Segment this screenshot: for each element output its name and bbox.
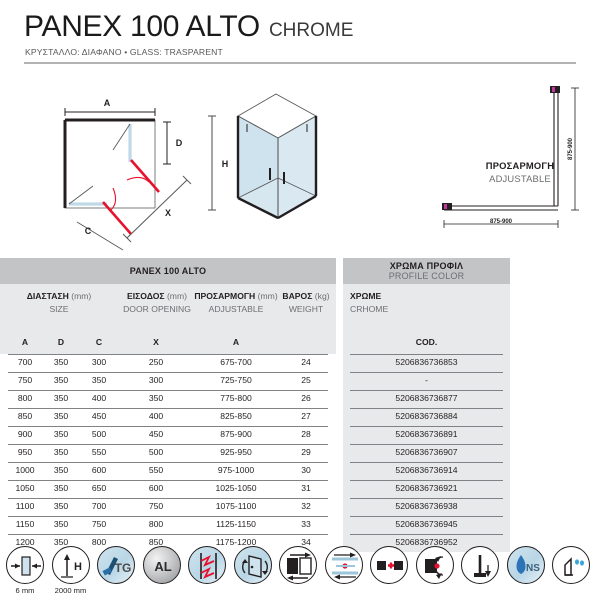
cell-size-d: 350 — [44, 501, 78, 511]
cell-size-d: 350 — [44, 447, 78, 457]
cell-adjustable-a: 1075-1100 — [190, 501, 282, 511]
column-header-chrome: ΧΡΩΜΕ CRHOME — [350, 291, 470, 314]
adjustable-label-en: ADJUSTABLE — [455, 173, 585, 184]
cell-code: - — [350, 375, 503, 385]
adjustable-dim-vertical: 875-900 — [568, 137, 574, 160]
table-row[interactable]: 10503506506001025-1050315206836736921 — [0, 480, 600, 498]
table-row[interactable]: 850350450400825-850275206836736884 — [0, 408, 600, 426]
row-divider — [8, 516, 328, 517]
glass-thickness-icon — [6, 546, 44, 584]
row-divider — [8, 498, 328, 499]
easy-clean-icon — [552, 546, 590, 584]
spec-sheet-page: PANEX 100 ALTO CHROME ΚΡΥΣΤΑΛΛΟ: ΔΙΑΦΑΝΟ… — [0, 0, 600, 600]
cell-adjustable-a: 1025-1050 — [190, 483, 282, 493]
cell-size-c: 650 — [80, 483, 118, 493]
cell-weight: 30 — [284, 465, 328, 475]
cell-door-opening-x: 250 — [124, 357, 188, 367]
cell-door-opening-x: 300 — [124, 375, 188, 385]
adjustable-dim-horizontal: 875-900 — [490, 219, 513, 225]
cell-adjustable-a: 675-700 — [190, 357, 282, 367]
column-header-weight-gr: ΒΑΡΟΣ — [282, 291, 312, 301]
height-icon-caption: 2000 mm — [50, 586, 92, 595]
row-divider — [8, 534, 328, 535]
column-header-weight-en: WEIGHT — [276, 304, 336, 314]
row-divider-code — [350, 408, 503, 409]
magnetic-profile-icon — [325, 546, 363, 584]
adjustable-label-gr: ΠΡΟΣΑΡΜΟΓΗ — [455, 160, 585, 171]
svg-text:H: H — [74, 561, 82, 573]
cell-code: 5206836736907 — [350, 447, 503, 457]
cell-size-a: 800 — [8, 393, 42, 403]
cell-size-c: 350 — [80, 375, 118, 385]
row-divider — [8, 354, 328, 355]
cell-size-d: 350 — [44, 465, 78, 475]
cell-adjustable-a: 725-750 — [190, 375, 282, 385]
floor-support-icon — [416, 546, 454, 584]
cell-door-opening-x: 350 — [124, 393, 188, 403]
feature-icon-strip: 6 mm H 2000 mm TG AL — [0, 546, 600, 600]
cell-size-d: 350 — [44, 393, 78, 403]
cell-door-opening-x: 800 — [124, 519, 188, 529]
subheader-adj: A — [190, 337, 282, 347]
column-header-weight: ΒΑΡΟΣ (kg) WEIGHT — [276, 291, 336, 314]
cell-size-d: 350 — [44, 411, 78, 421]
nano-coating-icon-item: NS — [505, 546, 547, 586]
column-header-weight-unit: (kg) — [315, 291, 330, 301]
plan-label-c: C — [85, 226, 92, 236]
page-header: PANEX 100 ALTO CHROME ΚΡΥΣΤΑΛΛΟ: ΔΙΑΦΑΝΟ… — [0, 0, 600, 66]
cell-code: 5206836736853 — [350, 357, 503, 367]
cell-weight: 24 — [284, 357, 328, 367]
row-divider — [8, 372, 328, 373]
cell-size-a: 1050 — [8, 483, 42, 493]
nano-coating-icon: NS — [507, 546, 545, 584]
anti-shock-icon — [188, 546, 226, 584]
subheader-x: X — [124, 337, 188, 347]
cell-size-d: 350 — [44, 357, 78, 367]
column-header-chrome-en: CRHOME — [350, 304, 470, 314]
cell-size-a: 850 — [8, 411, 42, 421]
lift-off-door-icon — [370, 546, 408, 584]
cell-size-a: 700 — [8, 357, 42, 367]
row-divider-code — [350, 480, 503, 481]
column-header-size-gr: ΔΙΑΣΤΑΣΗ — [27, 291, 69, 301]
adjustable-label: ΠΡΟΣΑΡΜΟΓΗ ADJUSTABLE — [455, 160, 585, 184]
row-divider-code — [350, 444, 503, 445]
table-row[interactable]: 1000350600550975-1000305206836736914 — [0, 462, 600, 480]
table-banner-color-gr: ΧΡΩΜΑ ΠΡΟΦΙΛ — [343, 258, 510, 271]
cell-code: 5206836736938 — [350, 501, 503, 511]
cell-size-d: 350 — [44, 519, 78, 529]
cell-size-d: 350 — [44, 429, 78, 439]
cell-size-a: 900 — [8, 429, 42, 439]
column-header-door-opening-gr: ΕΙΣΟΔΟΣ — [127, 291, 165, 301]
table-row[interactable]: 11003507007501075-1100325206836736938 — [0, 498, 600, 516]
adjustable-plan-drawing: 875-900 875-900 — [432, 82, 592, 232]
row-divider-code — [350, 390, 503, 391]
cell-size-c: 550 — [80, 447, 118, 457]
glass-thickness-icon-item: 6 mm — [4, 546, 46, 595]
table-banner-color-en: PROFILE COLOR — [343, 271, 510, 281]
cell-code: 5206836736891 — [350, 429, 503, 439]
easy-clean-icon-item — [550, 546, 592, 586]
svg-text:NS: NS — [526, 563, 540, 574]
row-divider — [8, 390, 328, 391]
product-name: PANEX 100 ALTO — [24, 10, 260, 44]
cell-size-a: 1100 — [8, 501, 42, 511]
technical-drawings: A D X — [0, 68, 600, 248]
row-divider-code — [350, 516, 503, 517]
cell-size-a: 750 — [8, 375, 42, 385]
plan-label-a: A — [104, 98, 111, 108]
table-banner-color: ΧΡΩΜΑ ΠΡΟΦΙΛ PROFILE COLOR — [343, 258, 510, 284]
subheader-cod: COD. — [350, 337, 503, 347]
cell-size-c: 400 — [80, 393, 118, 403]
cell-code: 5206836736945 — [350, 519, 503, 529]
subheader-d: D — [44, 337, 78, 347]
table-row[interactable]: 950350550500925-950295206836736907 — [0, 444, 600, 462]
reversible-door-icon — [234, 546, 272, 584]
made-to-measure-icon — [461, 546, 499, 584]
cell-weight: 31 — [284, 483, 328, 493]
column-header-size-en: SIZE — [2, 304, 116, 314]
cell-weight: 26 — [284, 393, 328, 403]
product-finish: CHROME — [269, 20, 353, 42]
made-to-measure-icon-item — [459, 546, 501, 586]
table-row[interactable]: 900350500450875-900285206836736891 — [0, 426, 600, 444]
cell-door-opening-x: 750 — [124, 501, 188, 511]
sliding-door-icon — [279, 546, 317, 584]
table-rows: 700350300250675-700245206836736853750350… — [0, 354, 600, 552]
cell-code: 5206836736914 — [350, 465, 503, 475]
cell-code: 5206836736884 — [350, 411, 503, 421]
cell-size-d: 350 — [44, 483, 78, 493]
cell-door-opening-x: 450 — [124, 429, 188, 439]
row-divider-code — [350, 354, 503, 355]
floor-support-icon-item — [414, 546, 456, 586]
cell-weight: 25 — [284, 375, 328, 385]
cell-weight: 27 — [284, 411, 328, 421]
cell-door-opening-x: 600 — [124, 483, 188, 493]
table-banner-main: PANEX 100 ALTO — [0, 258, 336, 284]
lift-off-door-icon-item — [368, 546, 410, 586]
cell-adjustable-a: 925-950 — [190, 447, 282, 457]
plan-label-x: X — [165, 208, 171, 218]
cell-door-opening-x: 400 — [124, 411, 188, 421]
column-header-size-unit: (mm) — [71, 291, 91, 301]
cell-door-opening-x: 500 — [124, 447, 188, 457]
cell-size-c: 300 — [80, 357, 118, 367]
subheader-c: C — [80, 337, 118, 347]
sliding-door-icon-item — [277, 546, 319, 586]
row-divider — [8, 480, 328, 481]
tempered-glass-tg-icon-item: TG — [95, 546, 137, 586]
cell-adjustable-a: 1125-1150 — [190, 519, 282, 529]
cell-adjustable-a: 875-900 — [190, 429, 282, 439]
column-header-chrome-gr: ΧΡΩΜΕ — [350, 291, 470, 301]
cell-size-a: 1150 — [8, 519, 42, 529]
aluminium-al-icon: AL — [143, 546, 181, 584]
table-row[interactable]: 750350350300725-75025- — [0, 372, 600, 390]
subheader-a: A — [8, 337, 42, 347]
height-icon-item: H 2000 mm — [50, 546, 92, 595]
row-divider — [8, 408, 328, 409]
cell-weight: 32 — [284, 501, 328, 511]
glass-thickness-icon-caption: 6 mm — [4, 586, 46, 595]
tempered-glass-tg-icon: TG — [97, 546, 135, 584]
height-icon: H — [52, 546, 90, 584]
row-divider-code — [350, 462, 503, 463]
column-header-adjustable-en: ADJUSTABLE — [182, 304, 290, 314]
row-divider-code — [350, 498, 503, 499]
cell-size-c: 750 — [80, 519, 118, 529]
table-row[interactable]: 700350300250675-700245206836736853 — [0, 354, 600, 372]
row-divider-code — [350, 534, 503, 535]
cell-door-opening-x: 550 — [124, 465, 188, 475]
table-row[interactable]: 11503507508001125-1150335206836736945 — [0, 516, 600, 534]
magnetic-profile-icon-item — [323, 546, 365, 586]
cell-size-c: 700 — [80, 501, 118, 511]
cell-size-a: 1000 — [8, 465, 42, 475]
isometric-view-drawing: H — [198, 82, 333, 242]
header-divider — [24, 62, 576, 64]
cell-size-d: 350 — [44, 375, 78, 385]
plan-label-d: D — [176, 138, 183, 148]
anti-shock-icon-item — [186, 546, 228, 586]
row-divider — [8, 426, 328, 427]
table-banner-main-label: PANEX 100 ALTO — [0, 258, 336, 284]
table-row[interactable]: 800350400350775-800265206836736877 — [0, 390, 600, 408]
cell-weight: 29 — [284, 447, 328, 457]
cell-size-c: 500 — [80, 429, 118, 439]
cell-size-c: 450 — [80, 411, 118, 421]
page-title: PANEX 100 ALTO CHROME — [24, 10, 353, 44]
row-divider-code — [350, 372, 503, 373]
cell-weight: 33 — [284, 519, 328, 529]
cell-adjustable-a: 775-800 — [190, 393, 282, 403]
row-divider-code — [350, 426, 503, 427]
glass-type-subtitle: ΚΡΥΣΤΑΛΛΟ: ΔΙΑΦΑΝΟ • GLASS: TRASPARENT — [25, 47, 223, 57]
cell-weight: 28 — [284, 429, 328, 439]
svg-text:TG: TG — [115, 561, 132, 575]
cell-size-c: 600 — [80, 465, 118, 475]
cell-adjustable-a: 975-1000 — [190, 465, 282, 475]
column-header-adjustable-unit: (mm) — [258, 291, 278, 301]
cell-code: 5206836736877 — [350, 393, 503, 403]
svg-text:AL: AL — [154, 559, 171, 574]
iso-label-h: H — [222, 159, 229, 169]
aluminium-al-icon-item: AL — [141, 546, 183, 586]
row-divider — [8, 462, 328, 463]
row-divider — [8, 444, 328, 445]
cell-code: 5206836736921 — [350, 483, 503, 493]
cell-size-a: 950 — [8, 447, 42, 457]
reversible-door-icon-item — [232, 546, 274, 586]
cell-adjustable-a: 825-850 — [190, 411, 282, 421]
column-header-adjustable: ΠΡΟΣΑΡΜΟΓΗ (mm) ADJUSTABLE — [182, 291, 290, 314]
column-header-adjustable-gr: ΠΡΟΣΑΡΜΟΓΗ — [194, 291, 255, 301]
column-header-size: ΔΙΑΣΤΑΣΗ (mm) SIZE — [2, 291, 116, 314]
